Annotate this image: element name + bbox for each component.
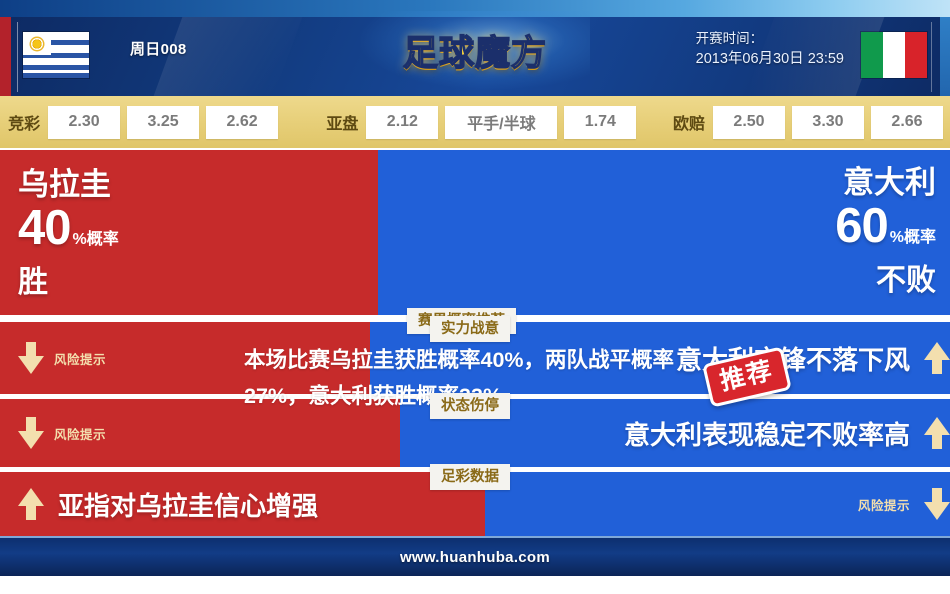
arrow-up-icon	[924, 417, 950, 449]
site-logo-text: 足球魔方	[403, 25, 547, 76]
recommend-stamp-text: 推荐	[717, 355, 776, 396]
site-logo: 足球魔方	[375, 22, 575, 78]
site-url: www.huanhuba.com	[400, 549, 550, 566]
home-team-probability: 40	[18, 202, 71, 254]
away-team-probability: 60	[835, 200, 888, 252]
row3-right-cell: 风险提示	[485, 472, 950, 536]
odds-cell[interactable]: 2.12	[366, 106, 438, 139]
kickoff-time: 2013年06月30日 23:59	[696, 49, 844, 69]
uruguay-flag-icon	[23, 32, 89, 78]
section-tag-strength: 实力战意	[430, 316, 510, 342]
away-team-block: 意大利 60 %概率 不败	[706, 166, 936, 298]
section-tag-condition: 状态伤停	[430, 393, 510, 419]
odds-cell[interactable]: 2.66	[871, 106, 943, 139]
arrow-up-icon	[924, 342, 950, 374]
odds-group-oupei: 欧赔 2.50 3.30 2.66	[673, 106, 950, 139]
odds-cell-handicap[interactable]: 平手/半球	[445, 106, 557, 139]
risk-indicator: 风险提示	[858, 488, 950, 520]
header-bar: 周日008 足球魔方 开赛时间： 2013年06月30日 23:59	[0, 0, 950, 96]
odds-group-yapan: 亚盘 2.12 平手/半球 1.74	[326, 106, 643, 139]
arrow-down-icon	[18, 417, 44, 449]
row3-claim-text: 亚指对乌拉圭信心增强	[58, 486, 318, 523]
header-separator-right	[931, 22, 932, 92]
header-red-edge	[0, 17, 11, 96]
arrow-down-icon	[924, 488, 950, 520]
kickoff-block: 开赛时间： 2013年06月30日 23:59	[696, 29, 844, 69]
home-team-probability-unit: %概率	[73, 214, 119, 266]
away-team-name: 意大利	[706, 166, 936, 200]
home-team-outcome: 胜	[18, 266, 228, 300]
odds-group-label: 竞彩	[8, 110, 40, 134]
factor-row-condition: 风险提示 意大利表现稳定不败率高 状态伤停	[0, 399, 950, 467]
row2-claim-text: 意大利表现稳定不败率高	[624, 415, 910, 452]
probability-panel: 乌拉圭 40 %概率 胜 意大利 60 %概率 不败 本场比赛乌拉圭获胜概率40…	[0, 150, 950, 315]
italy-flag-icon	[861, 32, 927, 78]
arrow-up-icon	[18, 488, 44, 520]
risk-label: 风险提示	[54, 424, 106, 443]
sun-of-may-icon	[31, 38, 43, 50]
bottom-white-margin	[0, 576, 950, 594]
odds-cell[interactable]: 2.30	[48, 106, 120, 139]
risk-indicator: 风险提示	[18, 417, 106, 449]
footer-bar: www.huanhuba.com	[0, 538, 950, 576]
home-team-name: 乌拉圭	[18, 168, 228, 202]
infographic-root: 周日008 足球魔方 开赛时间： 2013年06月30日 23:59 竞彩 2.…	[0, 0, 950, 594]
odds-cell[interactable]: 2.62	[206, 106, 278, 139]
risk-label: 风险提示	[858, 495, 910, 514]
arrow-down-icon	[18, 342, 44, 374]
odds-cell[interactable]: 3.30	[792, 106, 864, 139]
risk-indicator: 风险提示	[18, 342, 106, 374]
header-blue-edge	[940, 17, 950, 96]
match-number: 周日008	[130, 38, 187, 59]
away-team-outcome: 不败	[706, 264, 936, 298]
odds-cell[interactable]: 1.74	[564, 106, 636, 139]
kickoff-label: 开赛时间：	[696, 29, 844, 49]
home-team-block: 乌拉圭 40 %概率 胜	[18, 168, 228, 300]
odds-group-label: 欧赔	[673, 110, 705, 134]
odds-cell[interactable]: 2.50	[713, 106, 785, 139]
odds-cell[interactable]: 3.25	[127, 106, 199, 139]
odds-group-jingcai: 竞彩 2.30 3.25 2.62	[8, 106, 285, 139]
away-team-probability-unit: %概率	[890, 212, 936, 264]
odds-bar: 竞彩 2.30 3.25 2.62 亚盘 2.12 平手/半球 1.74 欧赔 …	[0, 96, 950, 148]
header-separator-left	[17, 22, 18, 92]
factor-row-lottery-data: 亚指对乌拉圭信心增强 风险提示 足彩数据	[0, 472, 950, 536]
row3-left-cell: 亚指对乌拉圭信心增强	[0, 472, 503, 536]
odds-group-label: 亚盘	[326, 110, 358, 134]
section-tag-lottery-data: 足彩数据	[430, 464, 510, 490]
risk-label: 风险提示	[54, 349, 106, 368]
